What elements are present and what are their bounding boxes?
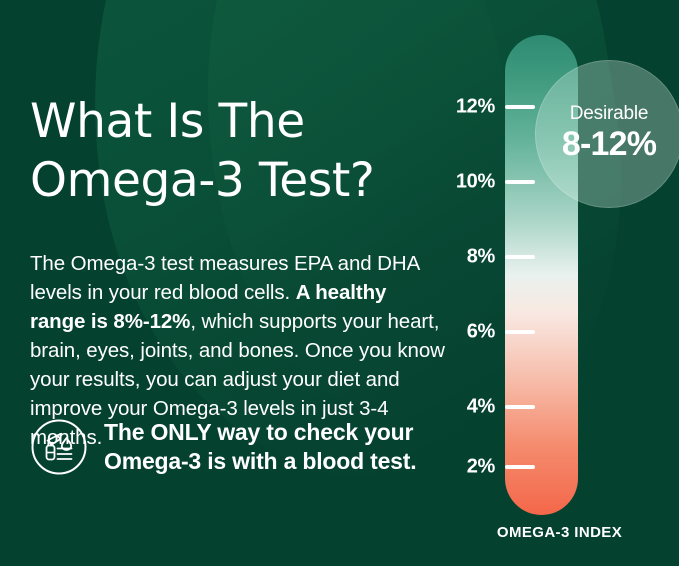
gauge-label-6: 6%	[435, 321, 495, 344]
badge-label: Desirable	[570, 104, 648, 123]
badge-value: 8-12%	[562, 126, 656, 163]
callout-line-1: The ONLY way to check your	[104, 418, 416, 447]
callout-text: The ONLY way to check your Omega-3 is wi…	[104, 418, 416, 475]
callout-line-2: Omega-3 is with a blood test.	[104, 447, 416, 476]
gauge-label-10: 10%	[435, 171, 495, 194]
gauge-label-4: 4%	[435, 396, 495, 419]
content-column: What Is The Omega-3 Test? The Omega-3 te…	[30, 0, 450, 566]
gauge-tick-6	[505, 330, 535, 334]
page-title: What Is The Omega-3 Test?	[30, 93, 450, 210]
omega3-infographic: What Is The Omega-3 Test? The Omega-3 te…	[0, 0, 679, 566]
page-title-line-2: Omega-3 Test?	[30, 152, 450, 210]
gauge-label-2: 2%	[435, 456, 495, 479]
gauge-tick-12	[505, 105, 535, 109]
gauge-label-12: 12%	[435, 96, 495, 119]
gauge-label-8: 8%	[435, 246, 495, 269]
gauge-tick-4	[505, 405, 535, 409]
omega3-index-gauge: 12% 10% 8% 6% 4% 2% Desirable 8-12% OMEG…	[440, 0, 679, 566]
gauge-tick-2	[505, 465, 535, 469]
page-title-line-1: What Is The	[30, 93, 450, 151]
blood-test-callout: The ONLY way to check your Omega-3 is wi…	[30, 418, 450, 476]
desirable-range-badge: Desirable 8-12%	[535, 60, 679, 208]
gauge-caption: OMEGA-3 INDEX	[440, 524, 679, 541]
gauge-tick-10	[505, 180, 535, 184]
gauge-tick-8	[505, 255, 535, 259]
blood-test-kit-icon	[30, 418, 88, 476]
